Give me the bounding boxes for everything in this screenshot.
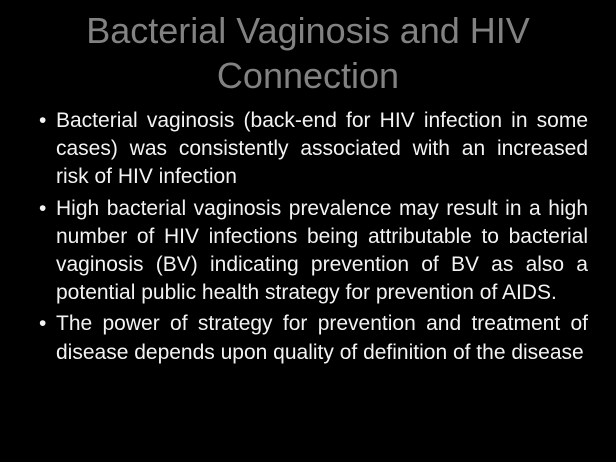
slide-bullet-list: • Bacterial vaginosis (back-end for HIV … (26, 107, 588, 367)
list-item-text: High bacterial vaginosis prevalence may … (56, 195, 588, 308)
list-item-text: Bacterial vaginosis (back-end for HIV in… (56, 107, 588, 192)
bullet-point-icon: • (39, 107, 53, 135)
list-item: • High bacterial vaginosis prevalence ma… (26, 195, 588, 308)
list-item: • The power of strategy for prevention a… (26, 310, 588, 366)
bullet-point-icon: • (39, 195, 53, 223)
list-item-text: The power of strategy for prevention and… (56, 310, 588, 366)
presentation-slide: Bacterial Vaginosis and HIV Connection •… (0, 0, 616, 462)
bullet-point-icon: • (39, 310, 53, 338)
list-item: • Bacterial vaginosis (back-end for HIV … (26, 107, 588, 192)
slide-title: Bacterial Vaginosis and HIV Connection (0, 8, 616, 98)
